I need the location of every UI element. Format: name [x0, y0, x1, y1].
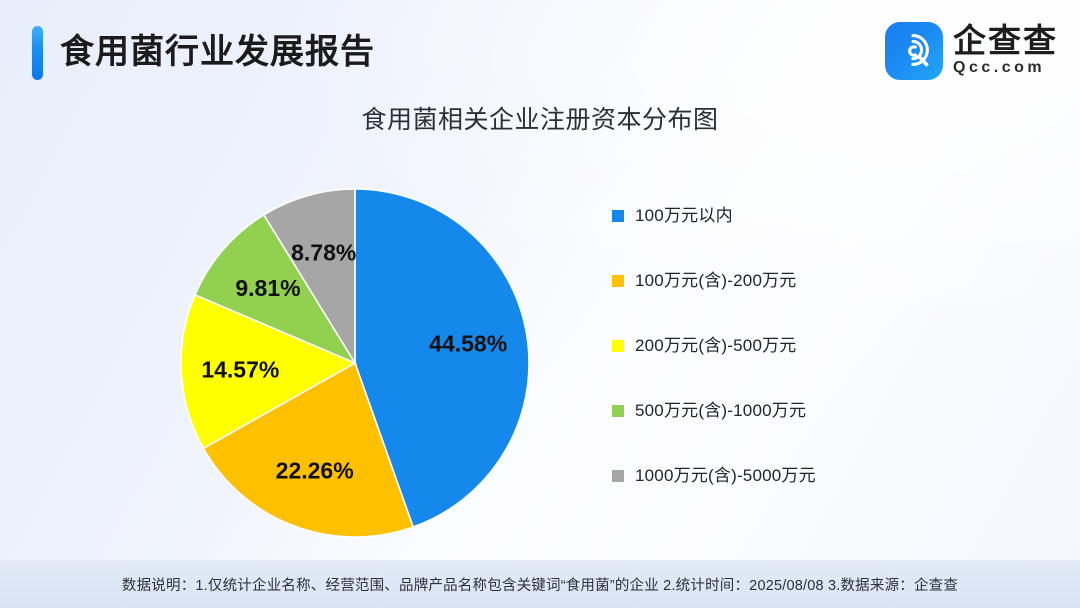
pie-slice-label-0: 44.58%	[429, 331, 507, 357]
legend-item-0[interactable]: 100万元以内	[612, 205, 942, 227]
legend-label-0: 100万元以内	[635, 205, 733, 227]
chart-title: 食用菌相关企业注册资本分布图	[0, 100, 1080, 140]
title-accent-bar	[32, 26, 43, 80]
legend-label-3: 500万元(含)-1000万元	[635, 400, 806, 422]
report-header: 食用菌行业发展报告 企查查 Qcc.com	[0, 0, 1080, 100]
pie-chart-svg: 44.58%22.26%14.57%9.81%8.78%	[180, 188, 530, 538]
legend-label-4: 1000万元(含)-5000万元	[635, 465, 816, 487]
legend-label-2: 200万元(含)-500万元	[635, 335, 797, 357]
legend-label-1: 100万元(含)-200万元	[635, 270, 797, 292]
legend-item-1[interactable]: 100万元(含)-200万元	[612, 270, 942, 292]
report-canvas: 食用菌行业发展报告 企查查 Qcc.com 食用菌相关企业注册资本分布图	[0, 0, 1080, 608]
legend-item-2[interactable]: 200万元(含)-500万元	[612, 335, 942, 357]
legend-swatch-icon-4	[612, 470, 624, 482]
brand-name-cn: 企查查	[953, 24, 1058, 58]
page-title: 食用菌行业发展报告	[60, 24, 375, 80]
chart-legend: 100万元以内 100万元(含)-200万元 200万元(含)-500万元 50…	[612, 205, 942, 487]
legend-swatch-icon-1	[612, 275, 624, 287]
legend-swatch-icon-3	[612, 405, 624, 417]
pie-slice-label-3: 9.81%	[235, 275, 300, 301]
pie-slice-label-2: 14.57%	[201, 356, 279, 382]
chart-area: 44.58%22.26%14.57%9.81%8.78% 100万元以内 100…	[0, 160, 1080, 540]
pie-slice-label-4: 8.78%	[291, 240, 356, 266]
legend-swatch-icon-2	[612, 340, 624, 352]
pie-slice-label-1: 22.26%	[276, 458, 354, 484]
qcc-logo-icon	[885, 22, 943, 80]
footer-note: 数据说明：1.仅统计企业名称、经营范围、品牌产品名称包含关键词“食用菌”的企业 …	[122, 574, 958, 595]
legend-item-3[interactable]: 500万元(含)-1000万元	[612, 400, 942, 422]
legend-item-4[interactable]: 1000万元(含)-5000万元	[612, 465, 942, 487]
brand-name-en: Qcc.com	[953, 58, 1058, 78]
footer-bar: 数据说明：1.仅统计企业名称、经营范围、品牌产品名称包含关键词“食用菌”的企业 …	[0, 560, 1080, 608]
brand-logo: 企查查 Qcc.com	[885, 20, 1058, 82]
pie-chart: 44.58%22.26%14.57%9.81%8.78%	[180, 188, 530, 538]
brand-text: 企查查 Qcc.com	[953, 22, 1058, 80]
legend-swatch-icon-0	[612, 210, 624, 222]
